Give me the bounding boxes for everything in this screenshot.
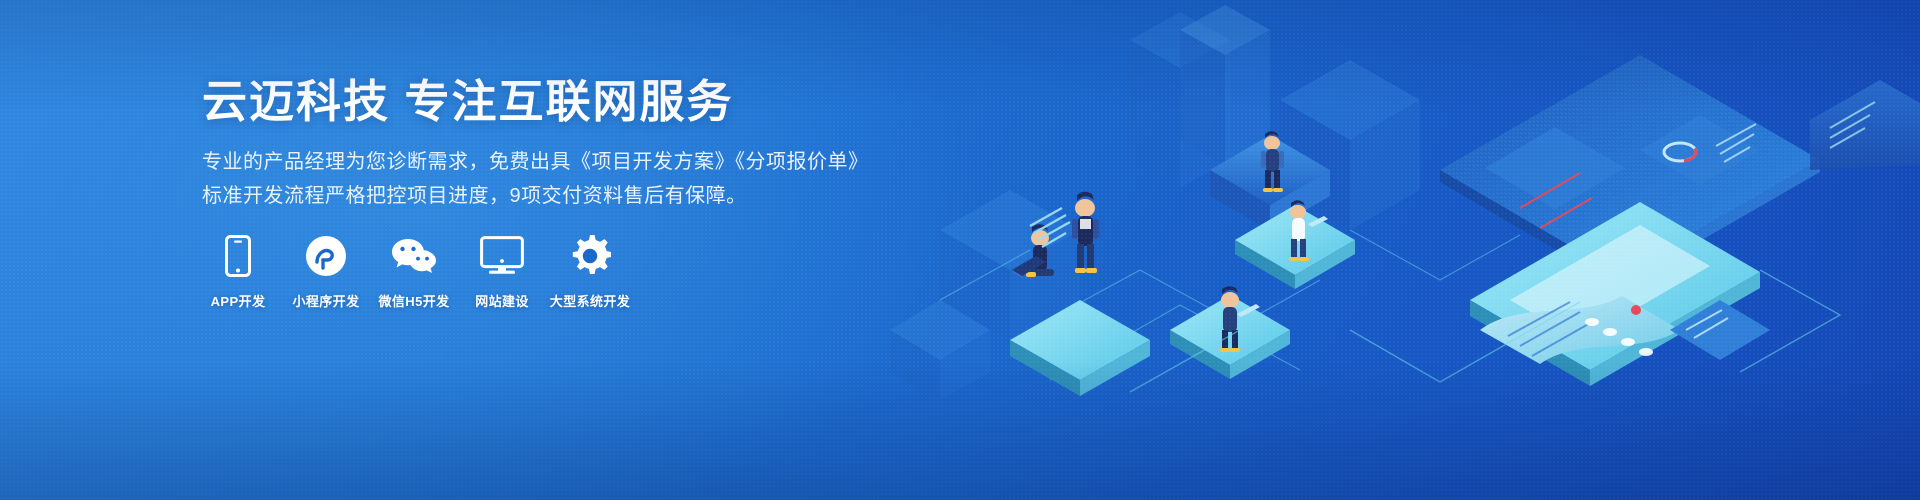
background-towers bbox=[1180, 5, 1270, 166]
service-item-mini-program[interactable]: 小程序开发 bbox=[290, 234, 362, 310]
page-title: 云迈科技 专注互联网服务 bbox=[202, 76, 734, 128]
side-screen bbox=[1810, 80, 1920, 170]
service-label: 大型系统开发 bbox=[550, 294, 630, 310]
service-label: 小程序开发 bbox=[292, 294, 359, 310]
gear-icon bbox=[569, 234, 611, 278]
service-label: 微信H5开发 bbox=[378, 294, 449, 310]
illustration-svg bbox=[880, 0, 1920, 500]
phone-icon bbox=[225, 234, 251, 278]
wechat-icon bbox=[391, 234, 437, 278]
subtitle-line-2: 标准开发流程严格把控项目进度，9项交付资料售后有保障。 bbox=[202, 180, 747, 212]
monitor-icon bbox=[480, 234, 524, 278]
service-list: APP开发 小程序开发 bbox=[202, 234, 626, 310]
subtitle-line-1: 专业的产品经理为您诊断需求，免费出具《项目开发方案》《分项报价单》 bbox=[202, 146, 869, 178]
service-label: APP开发 bbox=[211, 294, 266, 310]
service-label: 网站建设 bbox=[475, 294, 529, 310]
hero-illustration bbox=[880, 0, 1920, 500]
hero-banner: 云迈科技 专注互联网服务 专业的产品经理为您诊断需求，免费出具《项目开发方案》《… bbox=[0, 0, 1920, 500]
service-item-website[interactable]: 网站建设 bbox=[466, 234, 538, 310]
service-item-app[interactable]: APP开发 bbox=[202, 234, 274, 310]
background-blocks bbox=[890, 12, 1420, 400]
mini-program-icon bbox=[305, 234, 347, 278]
service-item-wechat[interactable]: 微信H5开发 bbox=[378, 234, 450, 310]
hero-copy: 云迈科技 专注互联网服务 专业的产品经理为您诊断需求，免费出具《项目开发方案》《… bbox=[202, 0, 942, 500]
service-item-system[interactable]: 大型系统开发 bbox=[554, 234, 626, 310]
